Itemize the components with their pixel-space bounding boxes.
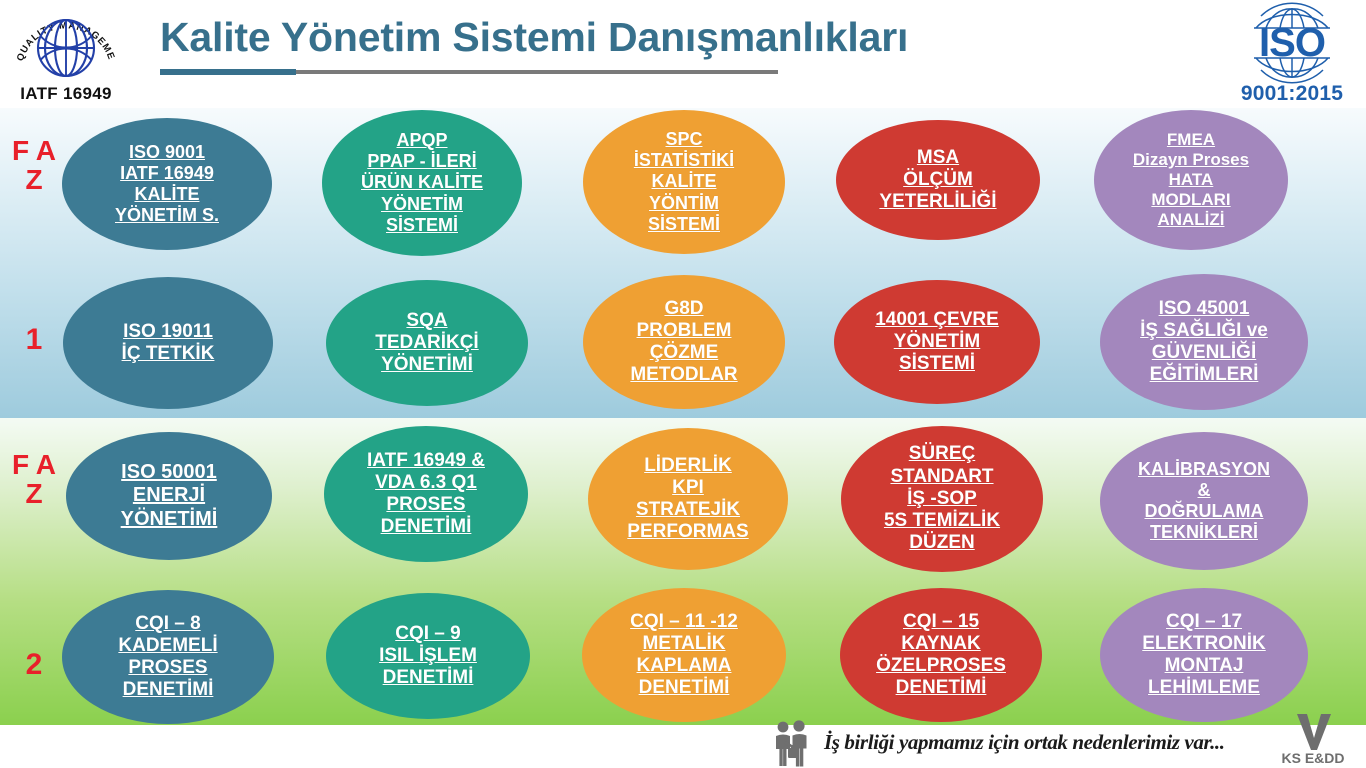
svg-text:QUALITY MANAGEMENT SYSTEM: QUALITY MANAGEMENT SYSTEM xyxy=(12,4,117,63)
topic-ellipse-label: IATF 16949 & VDA 6.3 Q1 PROSES DENETİMİ xyxy=(361,450,491,539)
topic-ellipse-label: MSA ÖLÇÜM YETERLİLİĞİ xyxy=(873,147,1002,214)
topic-ellipse-spc[interactable]: SPC İSTATİSTİKİ KALİTE YÖNTİM SİSTEMİ xyxy=(583,110,785,254)
topic-ellipse-label: APQP PPAP - İLERİ ÜRÜN KALİTE YÖNETİM Sİ… xyxy=(355,130,489,235)
topic-ellipse-iatf-vda[interactable]: IATF 16949 & VDA 6.3 Q1 PROSES DENETİMİ xyxy=(324,426,528,562)
topic-ellipse-iso9001[interactable]: ISO 9001 IATF 16949 KALİTE YÖNETİM S. xyxy=(62,118,272,250)
topic-ellipse-label: G8D PROBLEM ÇÖZME METODLAR xyxy=(624,298,743,387)
topic-ellipse-cqi11-12[interactable]: CQI – 11 -12 METALİK KAPLAMA DENETİMİ xyxy=(582,588,786,722)
topic-ellipse-label: CQI – 8 KADEMELİ PROSES DENETİMİ xyxy=(112,613,223,702)
phase-1-number: 1 xyxy=(6,325,62,355)
phase-2-faz-label: F A Z xyxy=(6,450,62,508)
title-underline-rules xyxy=(160,69,778,75)
title-rule-grey xyxy=(296,70,778,74)
title-block: Kalite Yönetim Sistemi Danışmanlıkları xyxy=(160,16,1220,75)
topic-ellipse-cqi8[interactable]: CQI – 8 KADEMELİ PROSES DENETİMİ xyxy=(62,590,274,724)
topic-ellipse-cqi15[interactable]: CQI – 15 KAYNAK ÖZELPROSES DENETİMİ xyxy=(840,588,1042,722)
topic-ellipse-label: ISO 50001 ENERJİ YÖNETİMİ xyxy=(115,461,224,531)
slide-footer xyxy=(0,725,1366,768)
topic-ellipse-label: LİDERLİK KPI STRATEJİK PERFORMAS xyxy=(621,455,754,544)
topic-ellipse-label: FMEA Dizayn Proses HATA MODLARI ANALİZİ xyxy=(1127,130,1255,229)
topic-ellipse-cqi17[interactable]: CQI – 17 ELEKTRONİK MONTAJ LEHİMLEME xyxy=(1100,588,1308,722)
iso-version-label: 9001:2015 xyxy=(1222,82,1362,106)
topic-ellipse-14001[interactable]: 14001 ÇEVRE YÖNETİM SİSTEMİ xyxy=(834,280,1040,404)
topic-ellipse-label: ISO 9001 IATF 16949 KALİTE YÖNETİM S. xyxy=(109,142,225,226)
topic-ellipse-kalibrasyon[interactable]: KALİBRASYON & DOĞRULAMA TEKNİKLERİ xyxy=(1100,432,1308,570)
topic-ellipse-label: SPC İSTATİSTİKİ KALİTE YÖNTİM SİSTEMİ xyxy=(628,129,740,234)
page-title: Kalite Yönetim Sistemi Danışmanlıkları xyxy=(160,16,1220,59)
globe-icon: QUALITY MANAGEMENT SYSTEM xyxy=(12,4,120,86)
phase-2-number-label: 2 xyxy=(6,650,62,680)
topic-ellipse-sqa[interactable]: SQA TEDARİKÇİ YÖNETİMİ xyxy=(326,280,528,406)
topic-ellipse-iso19011[interactable]: ISO 19011 İÇ TETKİK xyxy=(63,277,273,409)
topic-ellipse-label: KALİBRASYON & DOĞRULAMA TEKNİKLERİ xyxy=(1132,459,1276,543)
phase-1-faz-letters: F A Z xyxy=(6,136,62,194)
title-rule-accent xyxy=(160,69,296,75)
topic-ellipse-g8d[interactable]: G8D PROBLEM ÇÖZME METODLAR xyxy=(583,275,785,409)
topic-ellipse-cqi9[interactable]: CQI – 9 ISIL İŞLEM DENETİMİ xyxy=(326,593,530,719)
topic-ellipse-fmea[interactable]: FMEA Dizayn Proses HATA MODLARI ANALİZİ xyxy=(1094,110,1288,250)
topic-ellipse-apqp-ppap[interactable]: APQP PPAP - İLERİ ÜRÜN KALİTE YÖNETİM Sİ… xyxy=(322,110,522,256)
phase-1-faz-label: F A Z xyxy=(6,136,62,194)
topic-ellipse-label: CQI – 9 ISIL İŞLEM DENETİMİ xyxy=(373,623,483,690)
topic-ellipse-iso45001[interactable]: ISO 45001 İŞ SAĞLIĞI ve GÜVENLİĞİ EĞİTİM… xyxy=(1100,274,1308,410)
topic-ellipse-msa[interactable]: MSA ÖLÇÜM YETERLİLİĞİ xyxy=(836,120,1040,240)
iatf-caption: IATF 16949 xyxy=(4,84,128,104)
phase-2-number: 2 xyxy=(6,650,62,680)
topic-ellipse-label: CQI – 17 ELEKTRONİK MONTAJ LEHİMLEME xyxy=(1136,611,1272,700)
handshake-people-icon xyxy=(770,718,820,768)
topic-ellipse-label: SQA TEDARİKÇİ YÖNETİMİ xyxy=(369,310,484,377)
topic-ellipse-label: ISO 19011 İÇ TETKİK xyxy=(116,321,221,365)
slide-canvas: QUALITY MANAGEMENT SYSTEM IATF 16949 xyxy=(0,0,1366,768)
iso-wordmark-icon: ISO xyxy=(1236,2,1348,84)
iso-globe-logo: ISO 9001:2015 xyxy=(1222,0,1362,110)
topic-ellipse-label: ISO 45001 İŞ SAĞLIĞI ve GÜVENLİĞİ EĞİTİM… xyxy=(1134,298,1274,387)
topic-ellipse-iso50001[interactable]: ISO 50001 ENERJİ YÖNETİMİ xyxy=(66,432,272,560)
phase-1-number-label: 1 xyxy=(6,325,62,355)
svg-text:ISO: ISO xyxy=(1259,21,1325,65)
phase-2-faz-letters: F A Z xyxy=(6,450,62,508)
topic-ellipse-label: CQI – 15 KAYNAK ÖZELPROSES DENETİMİ xyxy=(870,611,1012,700)
topic-ellipse-label: CQI – 11 -12 METALİK KAPLAMA DENETİMİ xyxy=(624,611,744,700)
topic-ellipse-label: SÜREÇ STANDART İŞ -SOP 5S TEMİZLİK DÜZEN xyxy=(878,443,1006,554)
slide-header: QUALITY MANAGEMENT SYSTEM IATF 16949 xyxy=(0,0,1366,108)
iatf-quality-globe-logo: QUALITY MANAGEMENT SYSTEM IATF 16949 xyxy=(4,2,128,106)
topic-ellipse-liderlik-kpi[interactable]: LİDERLİK KPI STRATEJİK PERFORMAS xyxy=(588,428,788,570)
topic-ellipse-surec-standart[interactable]: SÜREÇ STANDART İŞ -SOP 5S TEMİZLİK DÜZEN xyxy=(841,426,1043,572)
topic-ellipse-label: 14001 ÇEVRE YÖNETİM SİSTEMİ xyxy=(869,309,1005,376)
